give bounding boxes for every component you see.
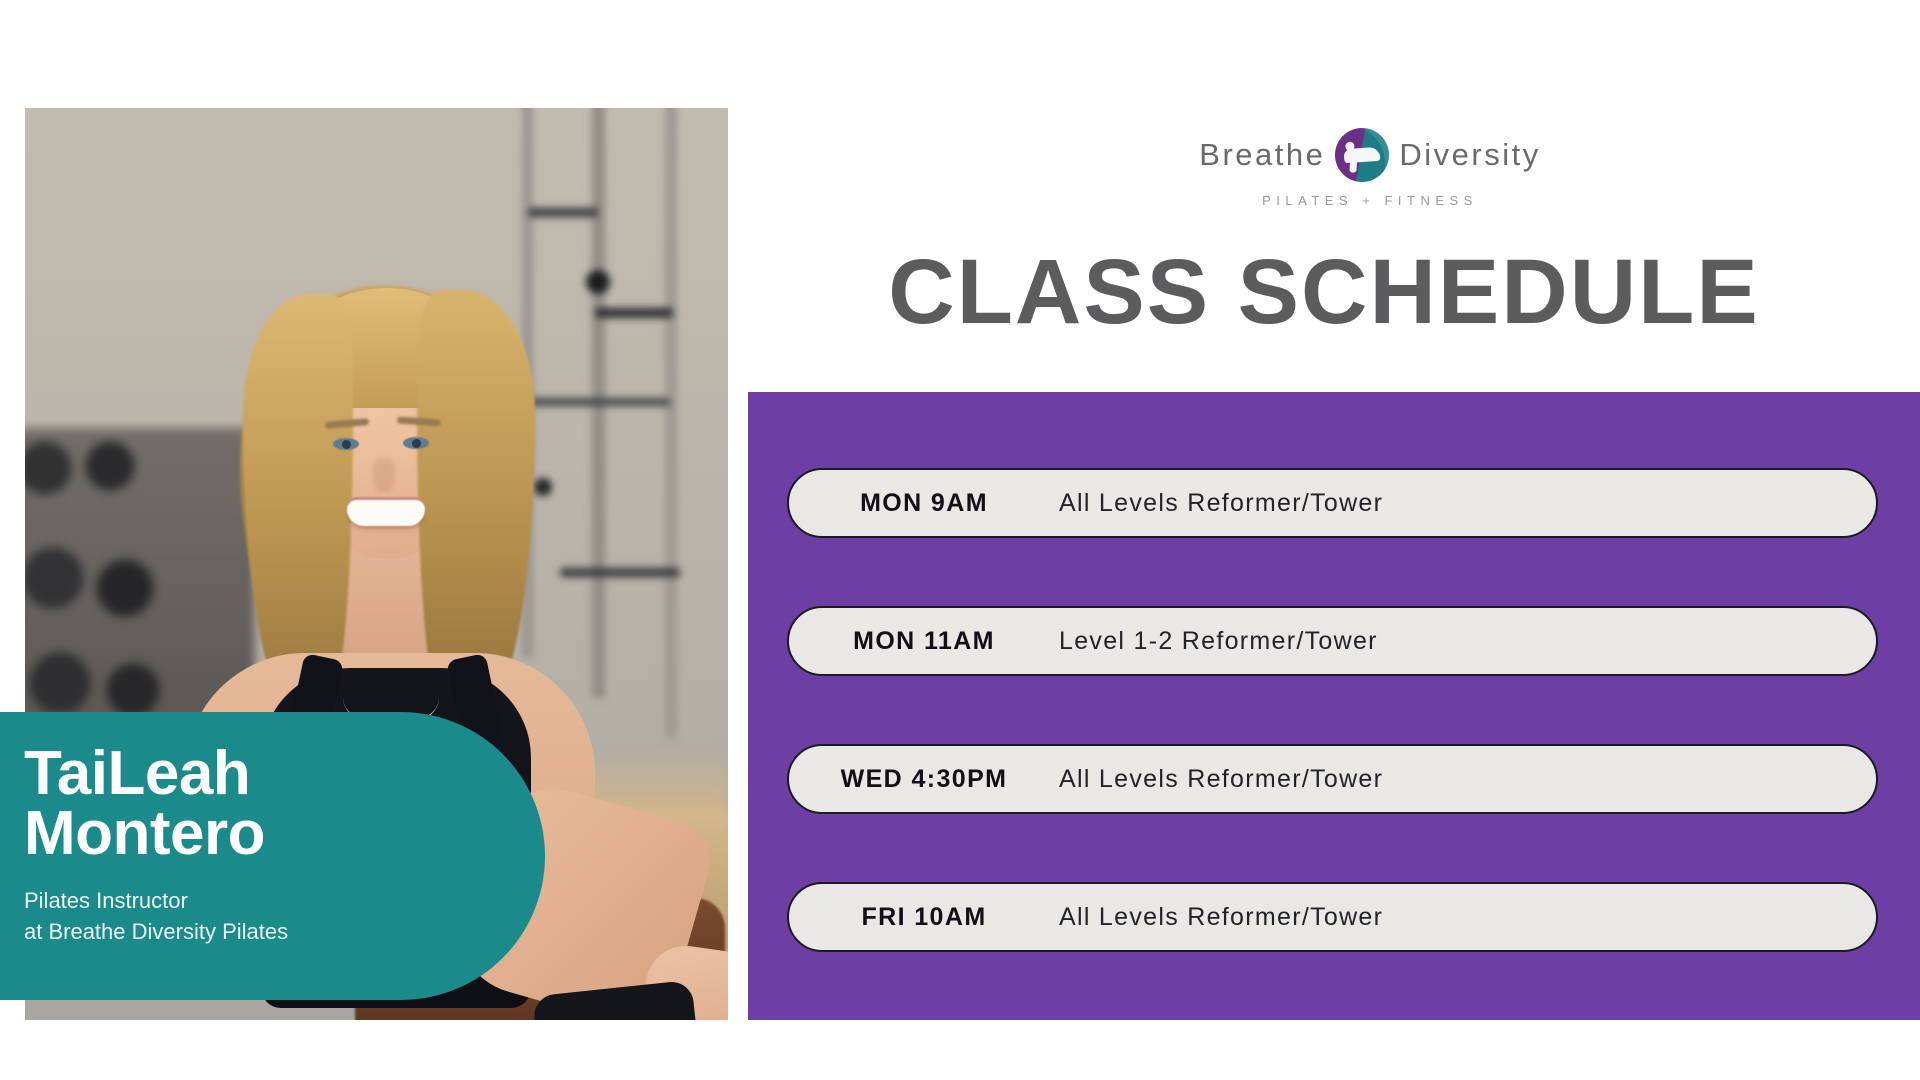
brand-word-left: Breathe [1199, 137, 1325, 173]
schedule-panel: MON 9AMAll Levels Reformer/TowerMON 11AM… [748, 392, 1920, 1020]
brand-name-row: Breathe Diversity [1195, 128, 1545, 182]
instructor-role: Pilates Instructor at Breathe Diversity … [24, 885, 545, 947]
instructor-name: TaiLeah Montero [24, 744, 545, 863]
schedule-row-time: MON 11AM [789, 627, 1059, 656]
schedule-row[interactable]: WED 4:30PMAll Levels Reformer/Tower [787, 744, 1878, 814]
schedule-row-class: Level 1-2 Reformer/Tower [1059, 627, 1876, 656]
instructor-name-card: TaiLeah Montero Pilates Instructor at Br… [0, 712, 545, 1000]
page-title: CLASS SCHEDULE [728, 246, 1920, 338]
schedule-row-class: All Levels Reformer/Tower [1059, 489, 1876, 518]
schedule-row-time: MON 9AM [789, 489, 1059, 518]
brand-tagline: PILATES + FITNESS [1195, 193, 1545, 208]
schedule-row[interactable]: MON 11AMLevel 1-2 Reformer/Tower [787, 606, 1878, 676]
brand-logo-lockup: Breathe Diversity PILATES + FITNESS [1195, 128, 1545, 208]
schedule-row-class: All Levels Reformer/Tower [1059, 765, 1876, 794]
schedule-row-time: WED 4:30PM [789, 765, 1059, 794]
schedule-row-time: FRI 10AM [789, 903, 1059, 932]
schedule-row-class: All Levels Reformer/Tower [1059, 903, 1876, 932]
schedule-row[interactable]: MON 9AMAll Levels Reformer/Tower [787, 468, 1878, 538]
schedule-list: MON 9AMAll Levels Reformer/TowerMON 11AM… [787, 468, 1878, 952]
poster-canvas: Breathe Diversity PILATES + FITNESS TaiL… [0, 0, 1920, 1080]
brand-word-right: Diversity [1399, 137, 1540, 173]
schedule-row[interactable]: FRI 10AMAll Levels Reformer/Tower [787, 882, 1878, 952]
breathe-diversity-circle-logo-icon [1335, 128, 1389, 182]
